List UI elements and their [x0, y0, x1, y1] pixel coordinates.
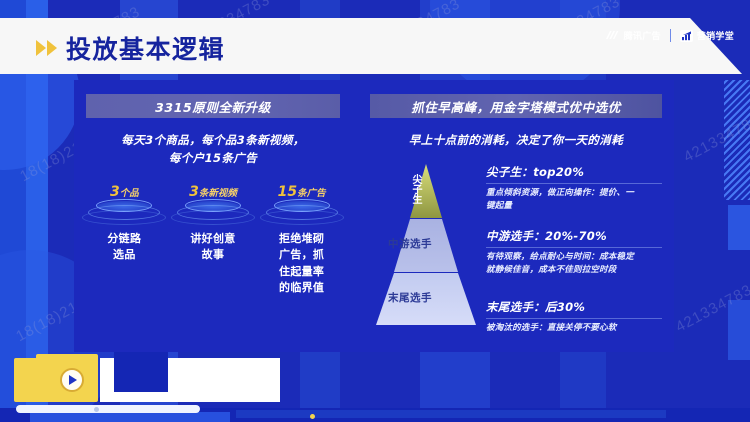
cylinder-desc-line: 故事 [171, 247, 255, 264]
cylinder-item: 3条新视频 讲好创意 故事 [171, 184, 255, 297]
brand-tencent-ads-label: 腾讯广告 [624, 29, 661, 42]
bottom-strip [30, 412, 230, 422]
cylinder-desc-line: 住起量率 [260, 264, 344, 281]
tier-description-block: 中游选手：20%-70% 有待观察，给点耐心与时间：成本稳定 就静候佳音，成本不… [486, 228, 662, 277]
card-subtitle: 早上十点前的消耗，决定了你一天的消耗 [358, 132, 674, 150]
tier-rule [486, 183, 662, 184]
page-title-row: 投放基本逻辑 [36, 28, 225, 68]
brand-marketing-academy: 营销学堂 [680, 29, 734, 42]
tier-body: 有待观察，给点耐心与时间：成本稳定 就静候佳音，成本不佳则拉空时段 [486, 251, 662, 277]
logo-divider [670, 29, 671, 42]
cylinder-desc-line: 的临界值 [260, 280, 344, 297]
cylinder-number-value: 15 [278, 184, 297, 200]
tier-body-line: 有待观察，给点耐心与时间：成本稳定 [486, 251, 662, 264]
decoration-yellow-card [14, 358, 98, 402]
card-subtitle-line: 早上十点前的消耗，决定了你一天的消耗 [358, 132, 674, 150]
card-subtitle-line: 每天3个商品，每个品3条新视频， [74, 132, 352, 150]
tier-description-block: 末尾选手：后30% 被淘汰的选手：直接关停不要心软 [486, 299, 662, 335]
card-header: 3315原则全新升级 [86, 94, 340, 118]
tier-body: 被淘汰的选手：直接关停不要心软 [486, 322, 662, 335]
pyramid-tier-descriptions: 尖子生：top20% 重点倾斜资源，做正向操作：提价、一 键起量 中游选手：20… [486, 164, 662, 346]
brand-logos: 腾讯广告 营销学堂 [605, 29, 734, 42]
cylinder-description: 拒绝堆砌 广告，抓 住起量率 的临界值 [260, 231, 344, 297]
cylinder-row: 3个品 分链路 选品 3条新视频 [74, 184, 352, 297]
cylinder-number-unit: 条新视频 [199, 188, 237, 199]
cylinder-desc-line: 广告，抓 [260, 247, 344, 264]
tier-body-line: 被淘汰的选手：直接关停不要心软 [486, 322, 662, 335]
tier-title: 末尾选手：后30% [486, 299, 662, 315]
cylinder-description: 讲好创意 故事 [171, 231, 255, 264]
play-circle-icon[interactable] [60, 368, 84, 392]
cylinder-desc-line: 选品 [82, 247, 166, 264]
card-subtitle: 每天3个商品，每个品3条新视频， 每个户15条广告 [74, 132, 352, 168]
tier-title: 尖子生：top20% [486, 164, 662, 180]
tier-body-line: 重点倾斜资源，做正向操作：提价、一 [486, 187, 662, 200]
card-3315-principle: 3315原则全新升级 每天3个商品，每个品3条新视频， 每个户15条广告 3个品 [74, 80, 352, 352]
tier-rule [486, 247, 662, 248]
cylinder-number: 15条广告 [260, 184, 344, 200]
cylinder-number-value: 3 [189, 184, 199, 200]
brand-tencent-ads: 腾讯广告 [605, 29, 661, 42]
tencent-ads-mark-icon [605, 30, 620, 41]
card-header-label: 抓住早高峰，用金字塔模式优中选优 [411, 97, 621, 116]
cylinder-desc-line: 拒绝堆砌 [260, 231, 344, 248]
cylinder-number-unit: 个品 [120, 188, 139, 199]
page-title: 投放基本逻辑 [66, 30, 225, 66]
tier-description-block: 尖子生：top20% 重点倾斜资源，做正向操作：提价、一 键起量 [486, 164, 662, 213]
cylinder-desc-line: 讲好创意 [171, 231, 255, 248]
play-triangle-icon [69, 375, 77, 385]
cylinder-number-value: 3 [110, 184, 120, 200]
bottom-strip [236, 410, 666, 418]
pyramid-tier-label-bottom: 末尾选手 [388, 290, 432, 305]
pyramid-tier-label-top: 尖子生 [410, 174, 420, 204]
content-panel: 3315原则全新升级 每天3个商品，每个品3条新视频， 每个户15条广告 3个品 [74, 80, 674, 352]
edge-block-decoration [728, 205, 750, 250]
cylinder-number: 3个品 [82, 184, 166, 200]
card-header-label: 3315原则全新升级 [155, 97, 271, 116]
video-progress-bar[interactable] [16, 405, 200, 413]
tier-title: 中游选手：20%-70% [486, 228, 662, 244]
tier-body: 重点倾斜资源，做正向操作：提价、一 键起量 [486, 187, 662, 213]
cylinder-number-unit: 条广告 [297, 188, 326, 199]
pyramid-tier-label-mid: 中游选手 [388, 236, 432, 251]
edge-block-decoration [728, 300, 750, 360]
card-header: 抓住早高峰，用金字塔模式优中选优 [370, 94, 662, 118]
decoration-dot [310, 414, 315, 419]
tier-body-line: 就静候佳音，成本不佳则拉空时段 [486, 264, 662, 277]
cylinder-item: 3个品 分链路 选品 [82, 184, 166, 297]
video-progress-knob[interactable] [94, 407, 99, 412]
tier-body-line: 键起量 [486, 200, 662, 213]
bar-chart-arrow-icon [680, 30, 693, 42]
card-subtitle-line: 每个户15条广告 [74, 150, 352, 168]
card-pyramid-strategy: 抓住早高峰，用金字塔模式优中选优 早上十点前的消耗，决定了你一天的消耗 [358, 80, 674, 352]
cylinder-number: 3条新视频 [171, 184, 255, 200]
double-chevron-right-icon [36, 40, 57, 56]
diagonal-stripe-decoration [724, 80, 750, 200]
pyramid-diagram: 尖子生 中游选手 末尾选手 尖子生：top20% 重点倾斜资源，做正向操作：提价… [358, 162, 674, 332]
brand-marketing-academy-label: 营销学堂 [697, 29, 734, 42]
tier-rule [486, 318, 662, 319]
decoration-blue-block [114, 352, 168, 392]
cylinder-desc-line: 分链路 [82, 231, 166, 248]
cylinder-description: 分链路 选品 [82, 231, 166, 264]
cylinder-item: 15条广告 拒绝堆砌 广告，抓 住起量率 的临界值 [260, 184, 344, 297]
